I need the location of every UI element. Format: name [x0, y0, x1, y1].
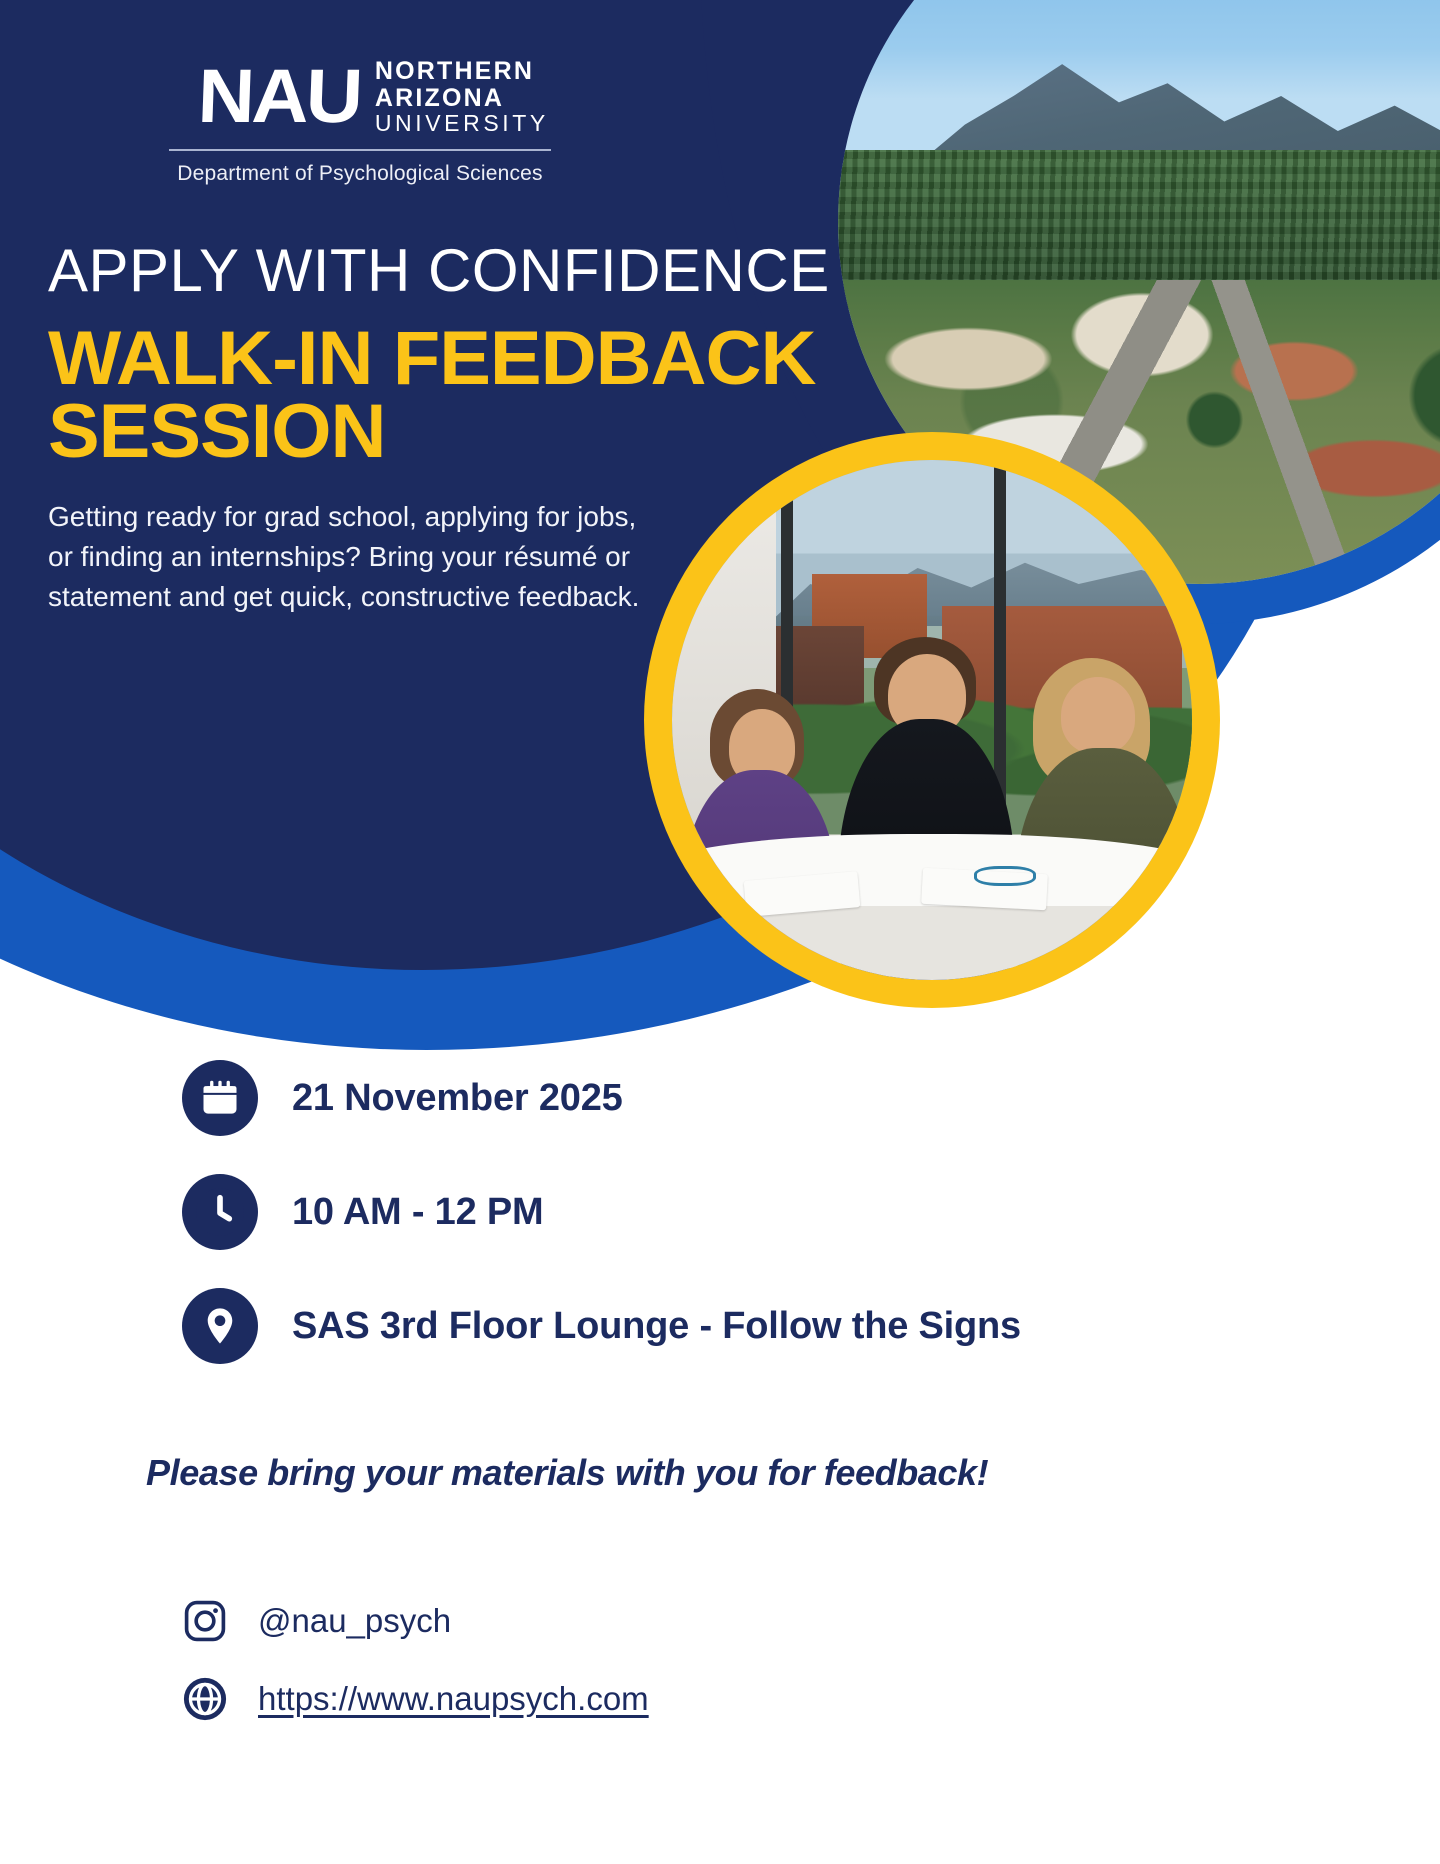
clock-icon [182, 1174, 258, 1250]
calendar-icon [182, 1060, 258, 1136]
eyeglasses-on-table [974, 866, 1036, 887]
event-description: Getting ready for grad school, applying … [48, 497, 648, 616]
instagram-link-row[interactable]: @nau_psych [182, 1598, 1082, 1644]
detail-row-date: 21 November 2025 [182, 1060, 1322, 1136]
globe-icon [182, 1676, 228, 1722]
logo-row: NAU NORTHERN ARIZONA UNIVERSITY [0, 58, 720, 135]
nau-wordmark: NORTHERN ARIZONA UNIVERSITY [375, 58, 549, 135]
instagram-handle[interactable]: @nau_psych [258, 1602, 451, 1640]
department-divider: Department of Psychological Sciences [169, 149, 551, 186]
person-right-head [1061, 677, 1135, 754]
location-pin-icon [182, 1288, 258, 1364]
nau-logo-lockup: NAU NORTHERN ARIZONA UNIVERSITY Departme… [0, 58, 720, 186]
detail-row-location: SAS 3rd Floor Lounge - Follow the Signs [182, 1288, 1322, 1364]
wordmark-line-northern: NORTHERN [375, 58, 549, 85]
footer-links: @nau_psych https://www.naupsych.com [182, 1598, 1082, 1754]
detail-date-text: 21 November 2025 [292, 1077, 623, 1120]
detail-time-text: 10 AM - 12 PM [292, 1191, 544, 1234]
wordmark-line-university: UNIVERSITY [375, 111, 549, 135]
event-title: WALK-IN FEEDBACK SESSION [48, 323, 864, 469]
bring-materials-callout: Please bring your materials with you for… [146, 1452, 1326, 1494]
event-details-list: 21 November 2025 10 AM - 12 PM SAS 3rd F… [182, 1060, 1322, 1402]
website-link-row[interactable]: https://www.naupsych.com [182, 1676, 1082, 1722]
nau-monogram: NAU [197, 66, 361, 128]
instagram-icon [182, 1598, 228, 1644]
event-title-line2: SESSION [48, 396, 864, 469]
detail-location-text: SAS 3rd Floor Lounge - Follow the Signs [292, 1305, 1021, 1348]
department-name: Department of Psychological Sciences [169, 162, 551, 186]
poster-canvas: NAU NORTHERN ARIZONA UNIVERSITY Departme… [0, 0, 1440, 1864]
website-url[interactable]: https://www.naupsych.com [258, 1680, 649, 1718]
kicker-text: APPLY WITH CONFIDENCE [48, 240, 848, 301]
headline-block: APPLY WITH CONFIDENCE WALK-IN FEEDBACK S… [48, 240, 848, 616]
wordmark-line-arizona: ARIZONA [375, 85, 549, 112]
detail-row-time: 10 AM - 12 PM [182, 1174, 1322, 1250]
event-title-line1: WALK-IN FEEDBACK [48, 323, 864, 396]
